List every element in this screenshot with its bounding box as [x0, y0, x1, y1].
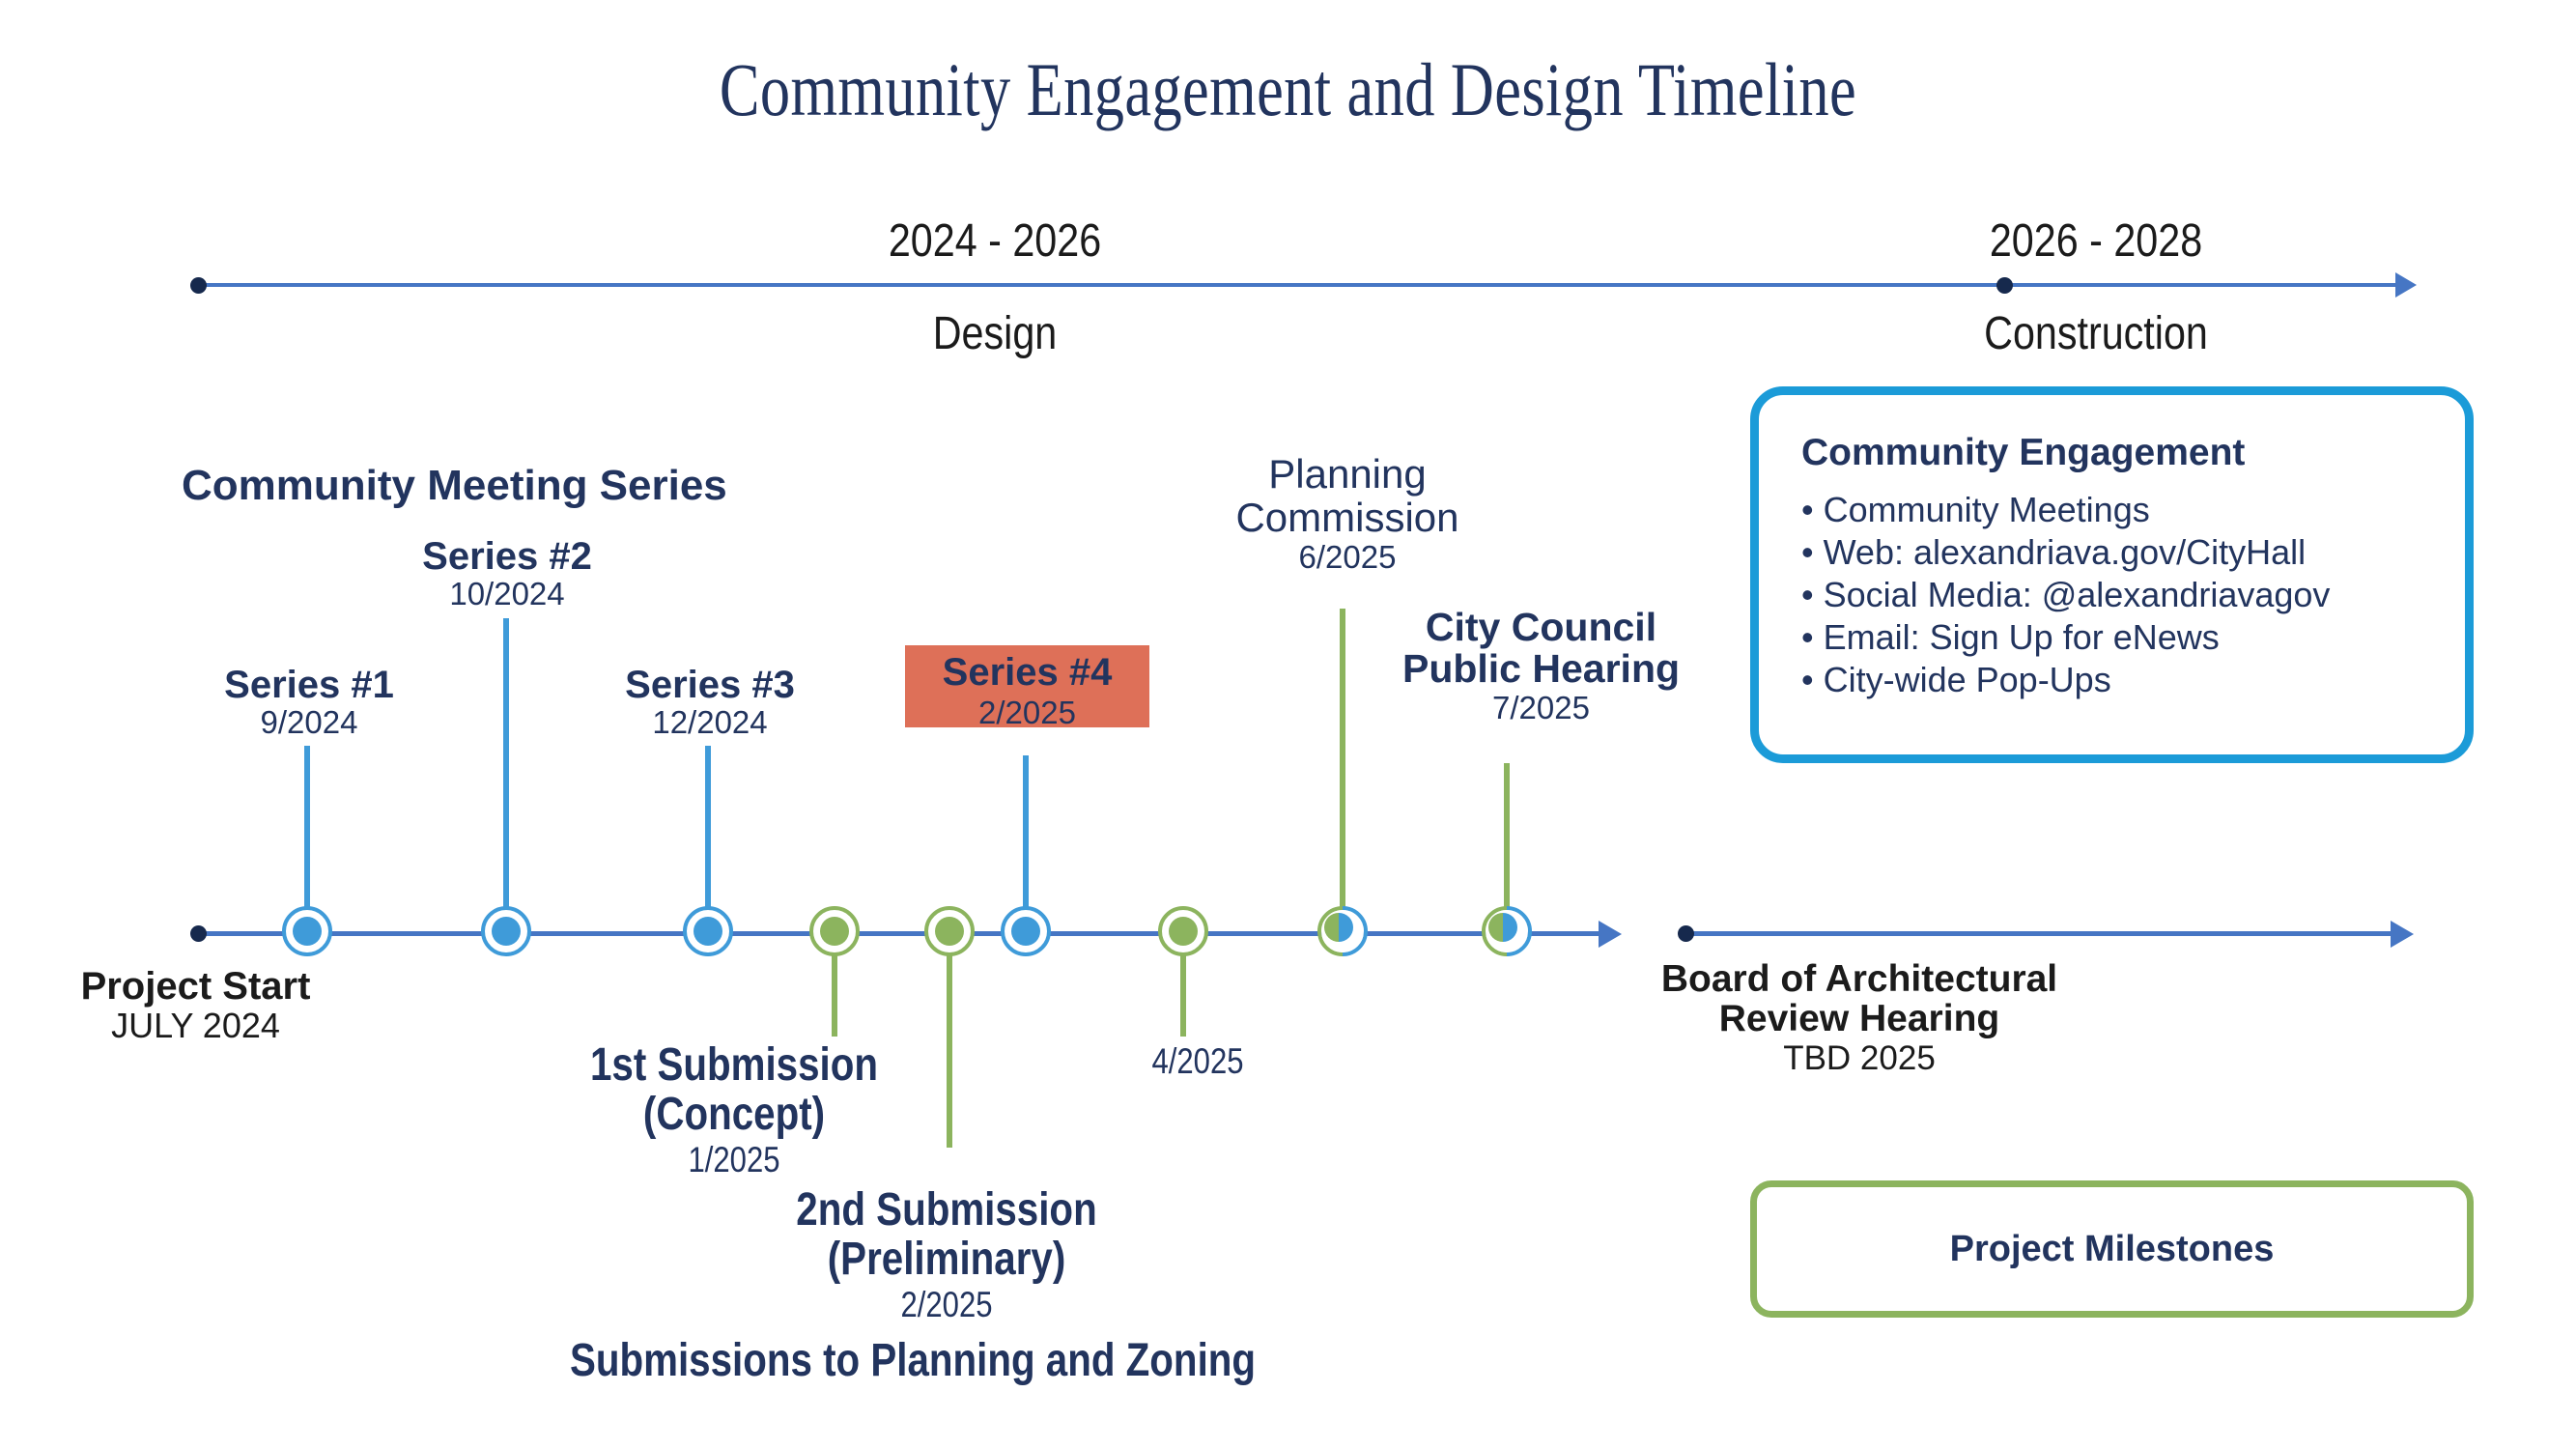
label-series-1-date: 9/2024	[145, 705, 473, 741]
legend-community-engagement: Community Engagement • Community Meeting…	[1750, 386, 2474, 763]
label-city-council-date: 7/2025	[1341, 691, 1741, 726]
label-series-3: Series #3 12/2024	[546, 665, 874, 741]
label-first-submission-date: 1/2025	[572, 1140, 896, 1179]
label-second-submission: 2nd Submission (Preliminary) 2/2025	[753, 1186, 1140, 1324]
label-series-4-highlight: Series #4 2/2025	[905, 645, 1149, 727]
label-project-start-title: Project Start	[29, 966, 362, 1007]
main-timeline-start-dot-icon	[190, 925, 207, 942]
phase-axis-line	[198, 283, 2410, 287]
legend-community-engagement-heading: Community Engagement	[1801, 434, 2465, 471]
label-second-submission-date: 2/2025	[784, 1285, 1109, 1324]
stem-technical-submission	[1180, 954, 1186, 1037]
main-timeline-right-start-dot-icon	[1678, 925, 1694, 942]
phase-axis-arrow-icon	[2395, 272, 2417, 298]
label-first-submission-title-line2: (Concept)	[572, 1091, 896, 1140]
label-planning-commission: Planning Commission 6/2025	[1174, 452, 1521, 576]
main-timeline-line-right	[1685, 931, 2405, 936]
label-city-council-title-line1: City Council	[1341, 607, 1741, 648]
label-planning-commission-date: 6/2025	[1174, 540, 1521, 576]
page-title: Community Engagement and Design Timeline	[258, 46, 2319, 133]
label-second-submission-title-line2: (Preliminary)	[784, 1236, 1109, 1285]
label-series-2-date: 10/2024	[343, 577, 671, 612]
legend-community-engagement-list: • Community Meetings • Web: alexandriava…	[1759, 489, 2465, 701]
label-project-start: Project Start JULY 2024	[29, 966, 362, 1046]
phase-construction-name: Construction	[1872, 307, 2320, 360]
marker-series-1[interactable]	[282, 906, 332, 956]
stem-series-3	[705, 746, 711, 910]
marker-planning-commission[interactable]	[1317, 906, 1368, 956]
main-timeline-line-left	[198, 931, 1613, 936]
label-second-submission-title-line1: 2nd Submission	[784, 1186, 1109, 1236]
stem-series-1	[304, 746, 310, 910]
phase-design-years: 2024 - 2026	[812, 214, 1177, 268]
legend-project-milestones-label: Project Milestones	[1950, 1229, 2275, 1270]
label-technical-submission-date: 4/2025	[971, 1041, 1425, 1081]
list-item: • Social Media: @alexandriavagov	[1801, 574, 2465, 616]
marker-city-council-public-hearing[interactable]	[1482, 906, 1532, 956]
group-heading-submissions-to-planning-and-zoning: Submissions to Planning and Zoning	[515, 1334, 1310, 1387]
stem-series-4	[1023, 755, 1029, 910]
marker-series-4[interactable]	[1001, 906, 1051, 956]
list-item: • Community Meetings	[1801, 489, 2465, 531]
timeline-infographic: Community Engagement and Design Timeline…	[0, 0, 2576, 1449]
label-board-review-title-line1: Board of Architectural	[1507, 959, 2212, 999]
label-series-2-title: Series #2	[343, 536, 671, 577]
marker-technical-submission[interactable]	[1158, 906, 1208, 956]
stem-series-2	[503, 618, 509, 910]
label-city-council-public-hearing: City Council Public Hearing 7/2025	[1341, 607, 1741, 726]
label-series-2: Series #2 10/2024	[343, 536, 671, 612]
phase-construction-years: 2026 - 2028	[1872, 214, 2320, 268]
marker-series-2[interactable]	[481, 906, 531, 956]
label-series-1: Series #1 9/2024	[145, 665, 473, 741]
marker-first-submission[interactable]	[809, 906, 860, 956]
label-project-start-date: JULY 2024	[29, 1007, 362, 1045]
label-planning-commission-title-line2: Commission	[1174, 496, 1521, 539]
label-series-1-title: Series #1	[145, 665, 473, 705]
label-series-4-title: Series #4	[905, 651, 1149, 695]
label-board-review-title-line2: Review Hearing	[1507, 999, 2212, 1038]
list-item: • Email: Sign Up for eNews	[1801, 616, 2465, 659]
phase-divider-dot-icon	[1996, 277, 2013, 294]
marker-second-submission[interactable]	[924, 906, 975, 956]
label-series-3-date: 12/2024	[546, 705, 874, 741]
label-planning-commission-title-line1: Planning	[1174, 452, 1521, 496]
main-timeline-arrow-right-icon	[2391, 921, 2414, 948]
label-series-4-date: 2/2025	[905, 695, 1149, 731]
stem-first-submission	[832, 954, 837, 1037]
label-city-council-title-line2: Public Hearing	[1341, 648, 1741, 690]
label-first-submission-title-line1: 1st Submission	[572, 1041, 896, 1091]
marker-series-3[interactable]	[683, 906, 733, 956]
stem-city-council-public-hearing	[1504, 763, 1510, 910]
label-series-3-title: Series #3	[546, 665, 874, 705]
legend-project-milestones: Project Milestones	[1750, 1180, 2474, 1318]
list-item: • Web: alexandriava.gov/CityHall	[1801, 531, 2465, 574]
main-timeline-arrow-left-icon	[1599, 921, 1622, 948]
label-technical-submission: 4/2025	[927, 1041, 1468, 1081]
label-first-submission: 1st Submission (Concept) 1/2025	[541, 1041, 927, 1179]
label-board-review-date: TBD 2025	[1507, 1039, 2212, 1077]
phase-axis-start-dot-icon	[190, 277, 207, 294]
label-board-of-architectural-review-hearing: Board of Architectural Review Hearing TB…	[1507, 959, 2212, 1077]
list-item: • City-wide Pop-Ups	[1801, 659, 2465, 701]
group-heading-community-meeting-series: Community Meeting Series	[182, 462, 727, 510]
phase-design-name: Design	[812, 307, 1177, 360]
